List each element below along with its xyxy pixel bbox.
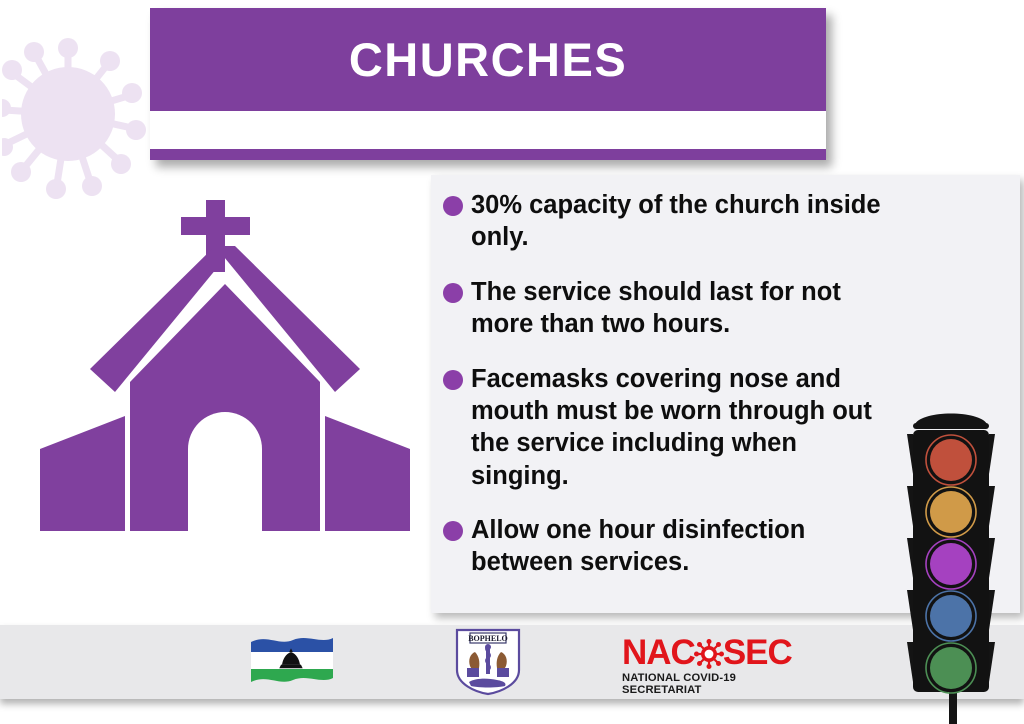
footer-bar: BOPHELO — [0, 625, 1024, 699]
list-item: 30% capacity of the church inside only. — [443, 189, 1006, 254]
lesotho-flag-icon — [247, 632, 335, 690]
church-icon — [30, 186, 420, 541]
poster-canvas: CHURCHES — [0, 0, 1024, 724]
guideline-text: Facemasks covering nose and mouth must b… — [471, 363, 901, 493]
title-banner-bottom-rule — [150, 149, 826, 160]
traffic-light-icon — [893, 402, 1024, 724]
bullet-dot-icon — [443, 283, 463, 303]
bophelo-coat-of-arms-icon: BOPHELO — [449, 628, 527, 696]
nacosec-word-part2: SEC — [723, 635, 792, 670]
title-banner: CHURCHES — [150, 8, 826, 160]
nacosec-subtitle: NATIONAL COVID-19 SECRETARIAT — [622, 672, 792, 696]
nacosec-virus-icon — [694, 639, 724, 669]
nacosec-logo: NAC — [622, 635, 792, 687]
page-title: CHURCHES — [349, 36, 627, 83]
nacosec-word-part1: NAC — [622, 635, 695, 670]
guideline-text: 30% capacity of the church inside only. — [471, 189, 901, 254]
bullet-dot-icon — [443, 196, 463, 216]
footer-logo-row: BOPHELO — [0, 625, 1024, 699]
bullet-dot-icon — [443, 370, 463, 390]
guideline-text: Allow one hour disinfection between serv… — [471, 514, 901, 579]
guideline-text: The service should last for not more tha… — [471, 276, 901, 341]
coronavirus-decoration — [2, 18, 152, 208]
list-item: The service should last for not more tha… — [443, 276, 1006, 341]
title-banner-white-strip — [150, 111, 826, 149]
bullet-dot-icon — [443, 521, 463, 541]
title-banner-purple-block: CHURCHES — [150, 8, 826, 111]
nacosec-wordmark: NAC — [622, 635, 792, 670]
shield-motto: BOPHELO — [468, 634, 508, 643]
